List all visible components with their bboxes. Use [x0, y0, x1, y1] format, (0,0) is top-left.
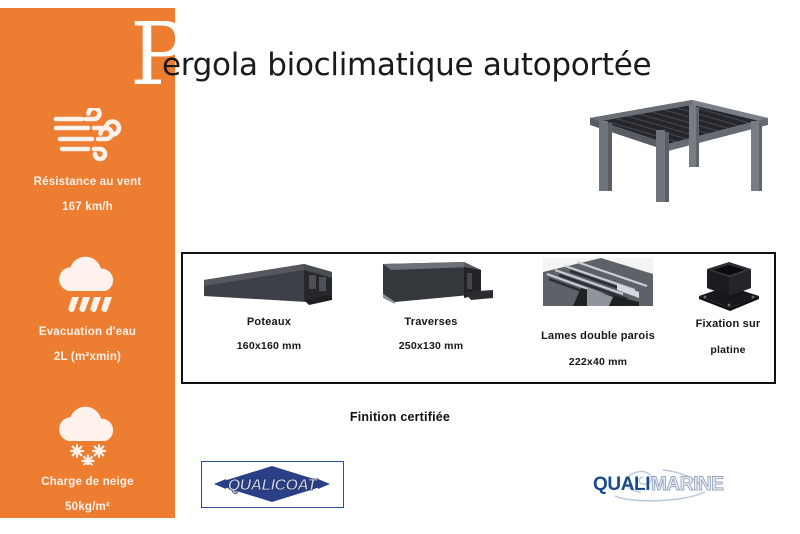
- spec-value: 2L (m²xmin): [0, 351, 175, 363]
- page-title: P ergola bioclimatique autoportée: [130, 20, 790, 92]
- qualicoat-logo: QUALICOAT: [201, 461, 344, 508]
- pergola-product-sheet: Résistance au vent 167 km/h Evacuation d…: [0, 0, 800, 534]
- spec-label: Résistance au vent: [0, 176, 175, 188]
- lames-double-parois-photo: [513, 258, 683, 316]
- fixation-platine-photo: [683, 258, 773, 316]
- pergola-hero-image: [572, 88, 772, 210]
- spec-item-water-evacuation: Evacuation d'eau 2L (m²xmin): [0, 254, 175, 363]
- product-name: Traverses: [351, 316, 511, 328]
- qualimarine-text-light: MARINE: [651, 474, 724, 495]
- product-dimension: 250x130 mm: [351, 340, 511, 352]
- product-item-poteaux: Poteaux 160x160 mm: [189, 258, 349, 352]
- product-name: Fixation sur: [683, 318, 773, 330]
- product-dimension: platine: [683, 344, 773, 356]
- poteau-aluminium-photo: [189, 258, 349, 316]
- product-dimension: 160x160 mm: [189, 340, 349, 352]
- title-dropcap: P: [130, 12, 188, 98]
- traverse-aluminium-photo: [351, 258, 511, 316]
- spec-value: 167 km/h: [0, 201, 175, 213]
- qualimarine-logo: QUALI MARINE: [585, 462, 737, 506]
- product-item-fixation: Fixation sur platine: [683, 258, 773, 356]
- product-item-lames: Lames double parois 222x40 mm: [513, 258, 683, 368]
- title-text: ergola bioclimatique autoportée: [162, 46, 651, 84]
- wind-icon: [0, 104, 175, 166]
- components-box: Poteaux 160x160 mm Traverses 250x130 mm: [181, 252, 776, 384]
- rain-cloud-icon: [0, 254, 175, 316]
- spec-value: 50kg/m²: [0, 501, 175, 513]
- spec-label: Charge de neige: [0, 476, 175, 488]
- product-name: Poteaux: [189, 316, 349, 328]
- product-item-traverses: Traverses 250x130 mm: [351, 258, 511, 352]
- spec-label: Evacuation d'eau: [0, 326, 175, 338]
- spec-item-wind: Résistance au vent 167 km/h: [0, 104, 175, 213]
- product-name: Lames double parois: [513, 330, 683, 342]
- certification-title: Finition certifiée: [0, 410, 800, 424]
- qualicoat-text: QUALICOAT: [228, 477, 318, 494]
- product-dimension: 222x40 mm: [513, 356, 683, 368]
- qualimarine-text-bold: QUALI: [593, 474, 650, 495]
